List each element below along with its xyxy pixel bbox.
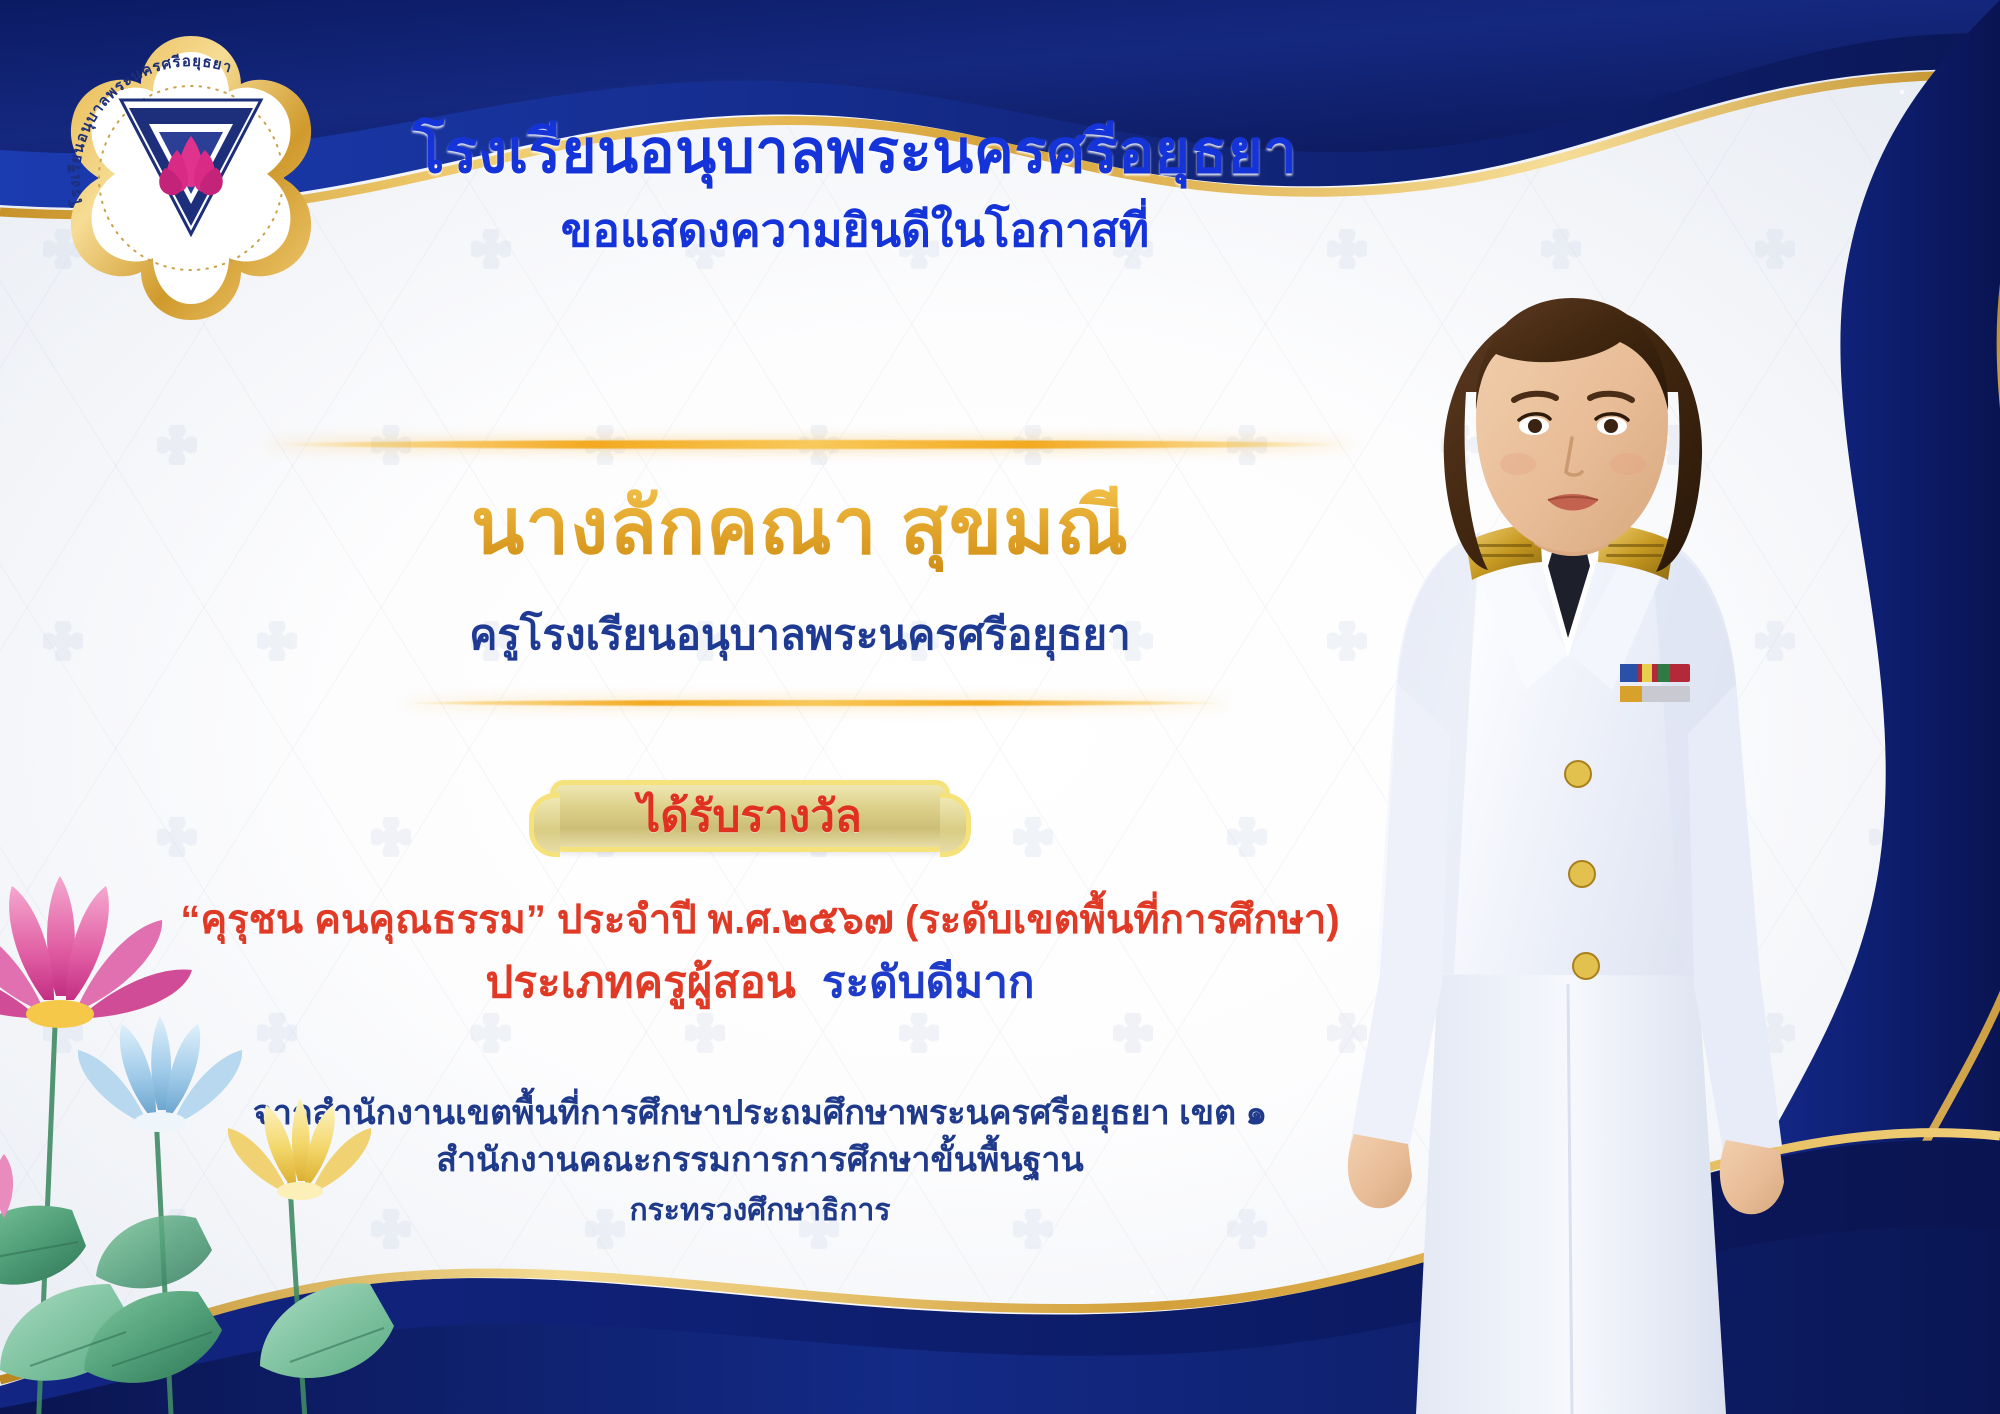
watermark-motif <box>154 814 200 860</box>
award-category: ประเภทครูผู้สอน <box>485 958 795 1007</box>
watermark-motif <box>1010 814 1056 860</box>
watermark-motif <box>154 422 200 468</box>
school-title: โรงเรียนอนุบาลพระนครศรีอยุธยา <box>350 118 1360 185</box>
issuer-block: จากสำนักงานเขตพื้นที่การศึกษาประถมศึกษาพ… <box>120 1090 1400 1231</box>
header-block: โรงเรียนอนุบาลพระนครศรีอยุธยา ขอแสดงความ… <box>350 118 1360 258</box>
issuer-line-3: กระทรวงศึกษาธิการ <box>120 1190 1400 1231</box>
badge-label: ได้รับรางวัล <box>638 781 862 851</box>
honoree-portrait <box>1290 214 1850 1414</box>
watermark-motif <box>40 618 86 664</box>
watermark-motif <box>1224 814 1270 860</box>
award-detail-block: “คุรุชน คนคุณธรรม” ประจำปี พ.ศ.๒๕๖๗ (ระด… <box>110 895 1410 1012</box>
award-title-line: “คุรุชน คนคุณธรรม” ประจำปี พ.ศ.๒๕๖๗ (ระด… <box>110 895 1410 946</box>
certificate-canvas: โรงเรียนอนุบาลพระนครศรีอยุธยา โรงเรียนอน… <box>0 0 2000 1414</box>
award-badge: ได้รับรางวัล <box>550 780 950 852</box>
award-category-line: ประเภทครูผู้สอนระดับดีมาก <box>110 954 1410 1012</box>
watermark-motif <box>254 618 300 664</box>
school-logo: โรงเรียนอนุบาลพระนครศรีอยุธยา <box>55 28 327 328</box>
honoree-name: นางลักคณา สุขมณี <box>300 480 1300 572</box>
divider-bottom <box>400 700 1230 706</box>
issuer-line-2: สำนักงานคณะกรรมการการศึกษาขั้นพื้นฐาน <box>120 1137 1400 1184</box>
congratulation-line: ขอแสดงความยินดีในโอกาสที่ <box>350 203 1360 258</box>
issuer-line-1: จากสำนักงานเขตพื้นที่การศึกษาประถมศึกษาพ… <box>120 1090 1400 1137</box>
school-emblem-icon: โรงเรียนอนุบาลพระนครศรีอยุธยา <box>55 28 327 328</box>
award-level: ระดับดีมาก <box>822 958 1035 1007</box>
watermark-motif <box>368 814 414 860</box>
divider-top <box>265 440 1355 449</box>
honoree-role: ครูโรงเรียนอนุบาลพระนครศรีอยุธยา <box>300 610 1300 660</box>
